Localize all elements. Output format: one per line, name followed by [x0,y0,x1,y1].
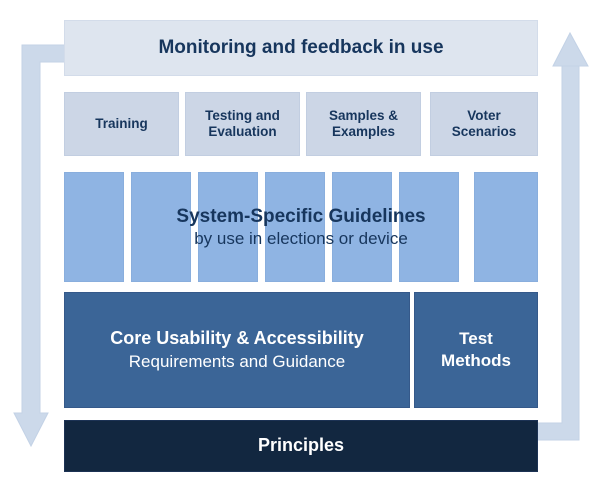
support-box-samples-line2: Examples [332,124,395,140]
monitoring-banner-label: Monitoring and feedback in use [158,37,443,59]
support-box-samples-and-examples[interactable]: Samples & Examples [306,92,421,156]
support-box-voter-line2: Scenarios [452,124,517,140]
principles-box[interactable]: Principles [64,420,538,472]
test-methods-line1: Test [459,328,493,350]
guideline-bar[interactable] [332,172,392,282]
guideline-bar[interactable] [198,172,258,282]
test-methods-line2: Methods [441,350,511,372]
system-specific-guidelines-bars [64,172,538,282]
support-box-voter-scenarios[interactable]: Voter Scenarios [430,92,538,156]
diagram-canvas: Monitoring and feedback in use Training … [0,0,600,487]
support-box-samples-line1: Samples & [329,108,398,124]
principles-label: Principles [258,435,344,456]
support-box-testing-line2: Evaluation [208,124,276,140]
guideline-bar[interactable] [265,172,325,282]
guideline-bar[interactable] [399,172,459,282]
support-box-training-line1: Training [95,116,148,132]
support-box-testing-and-evaluation[interactable]: Testing and Evaluation [185,92,300,156]
guideline-bar[interactable] [474,172,538,282]
support-box-testing-line1: Testing and [205,108,280,124]
core-usability-box[interactable]: Core Usability & Accessibility Requireme… [64,292,410,408]
support-box-training[interactable]: Training [64,92,179,156]
monitoring-banner[interactable]: Monitoring and feedback in use [64,20,538,76]
support-box-voter-line1: Voter [467,108,501,124]
guideline-bar[interactable] [64,172,124,282]
guideline-bar[interactable] [131,172,191,282]
core-usability-subtitle: Requirements and Guidance [129,351,345,373]
core-usability-title: Core Usability & Accessibility [110,327,363,350]
test-methods-box[interactable]: Test Methods [414,292,538,408]
